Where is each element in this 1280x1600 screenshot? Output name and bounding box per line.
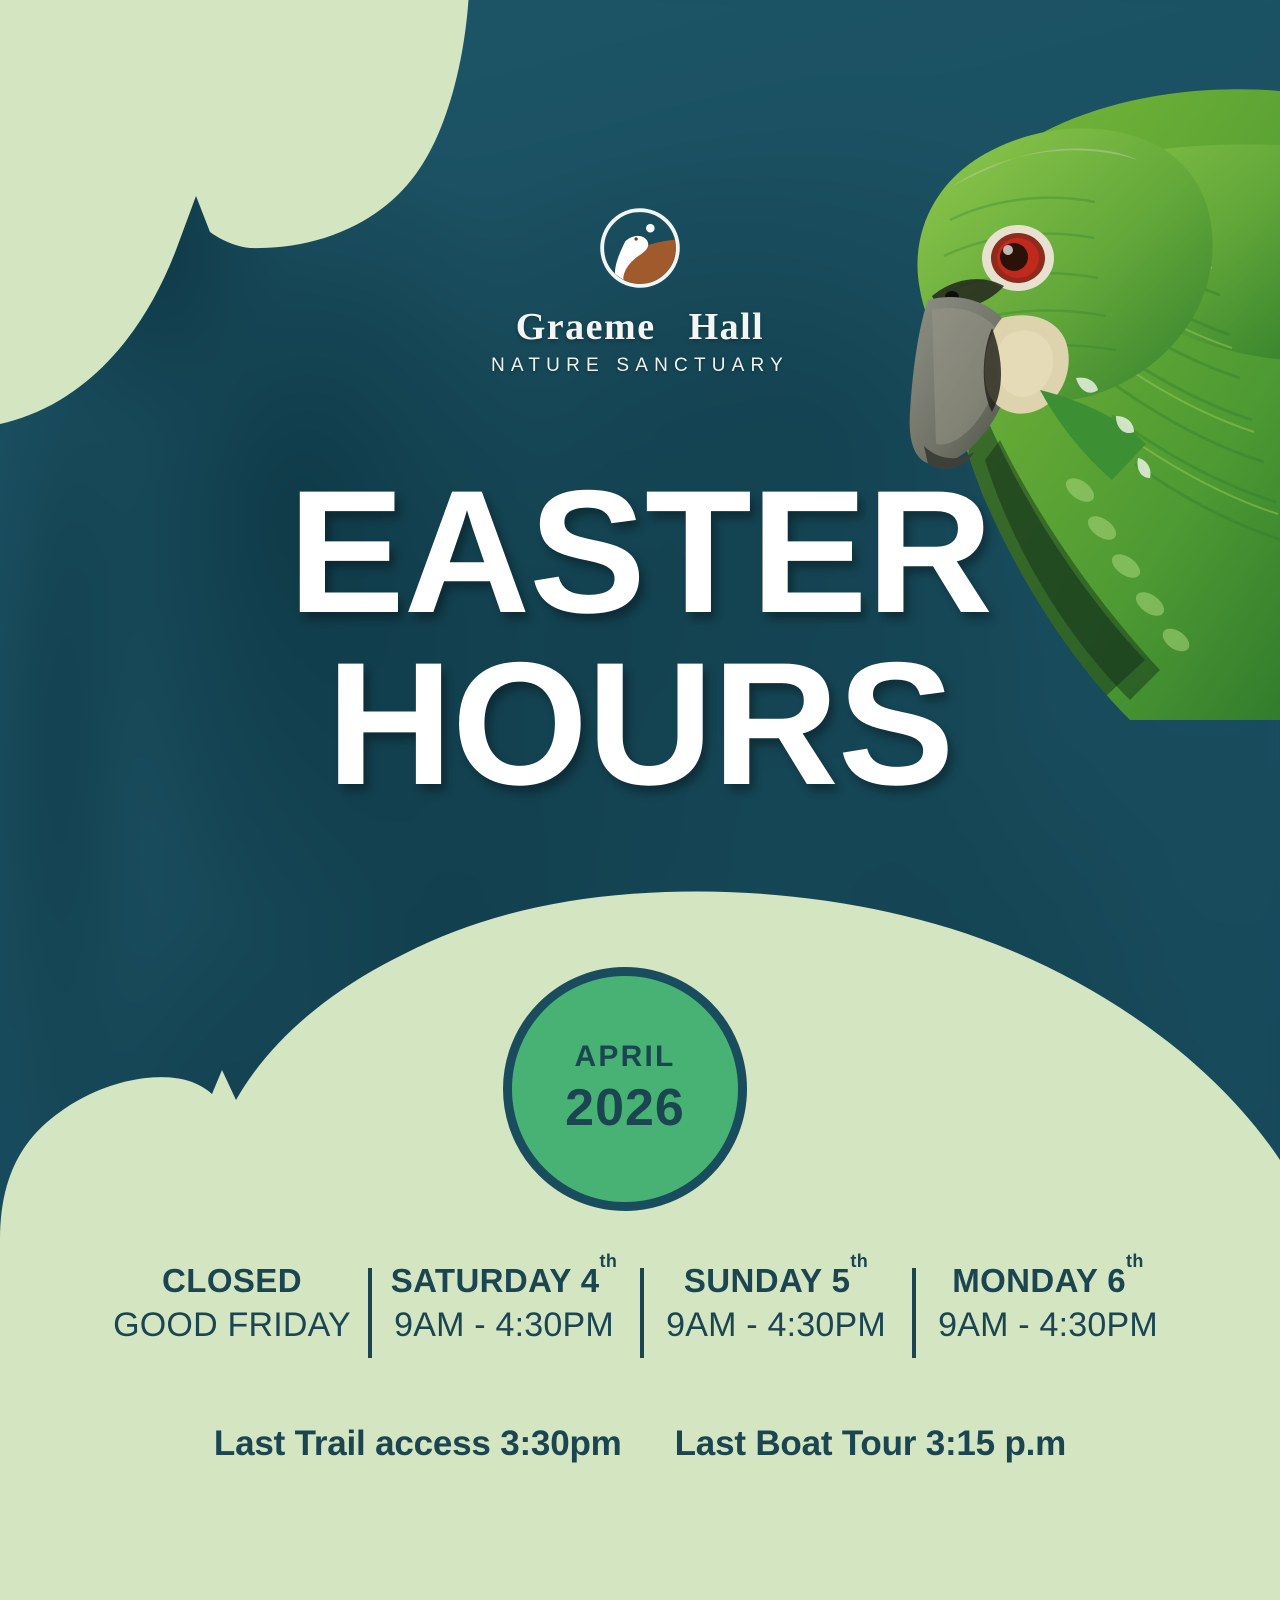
schedule-time: 9AM - 4:30PM bbox=[374, 1306, 634, 1345]
pelican-circle-logo-icon bbox=[597, 205, 683, 291]
note-trail-access: Last Trail access 3:30pm bbox=[214, 1424, 622, 1463]
schedule-column: MONDAY 6th 9AM - 4:30PM bbox=[912, 1262, 1184, 1345]
page-title: EASTER HOURS bbox=[0, 470, 1280, 809]
day-suffix: th bbox=[600, 1251, 618, 1271]
schedule-day: MONDAY 6th bbox=[918, 1262, 1178, 1300]
brand-name-last: Hall bbox=[689, 306, 765, 348]
brand-name: Graeme Hall bbox=[516, 305, 765, 349]
schedule-day: SUNDAY 5th bbox=[646, 1262, 906, 1300]
brand-name-first: Graeme bbox=[516, 306, 656, 348]
schedule-time: GOOD FRIDAY bbox=[102, 1306, 362, 1345]
badge-year: 2026 bbox=[565, 1078, 685, 1138]
schedule-row: CLOSED GOOD FRIDAY SATURDAY 4th 9AM - 4:… bbox=[96, 1262, 1184, 1345]
schedule-column: CLOSED GOOD FRIDAY bbox=[96, 1262, 368, 1345]
footer-notes: Last Trail access 3:30pm Last Boat Tour … bbox=[0, 1424, 1280, 1464]
day-suffix: th bbox=[850, 1251, 868, 1271]
leaf-bottom-fill bbox=[0, 1356, 1280, 1600]
headline-line-2: HOURS bbox=[0, 642, 1280, 808]
schedule-time: 9AM - 4:30PM bbox=[918, 1306, 1178, 1345]
schedule-column: SUNDAY 5th 9AM - 4:30PM bbox=[640, 1262, 912, 1345]
schedule-time: 9AM - 4:30PM bbox=[646, 1306, 906, 1345]
day-suffix: th bbox=[1126, 1251, 1144, 1271]
headline-line-1: EASTER bbox=[288, 455, 992, 650]
easter-hours-poster: Graeme Hall NATURE SANCTUARY EASTER HOUR… bbox=[0, 0, 1280, 1600]
brand-logo-block: Graeme Hall NATURE SANCTUARY bbox=[0, 205, 1280, 377]
schedule-day: SATURDAY 4th bbox=[374, 1262, 634, 1300]
badge-month: APRIL bbox=[575, 1040, 676, 1074]
schedule-column: SATURDAY 4th 9AM - 4:30PM bbox=[368, 1262, 640, 1345]
schedule-day: CLOSED bbox=[102, 1262, 362, 1300]
brand-tagline: NATURE SANCTUARY bbox=[491, 355, 789, 377]
date-badge: APRIL 2026 bbox=[503, 967, 747, 1211]
note-boat-tour: Last Boat Tour 3:15 p.m bbox=[675, 1424, 1066, 1463]
